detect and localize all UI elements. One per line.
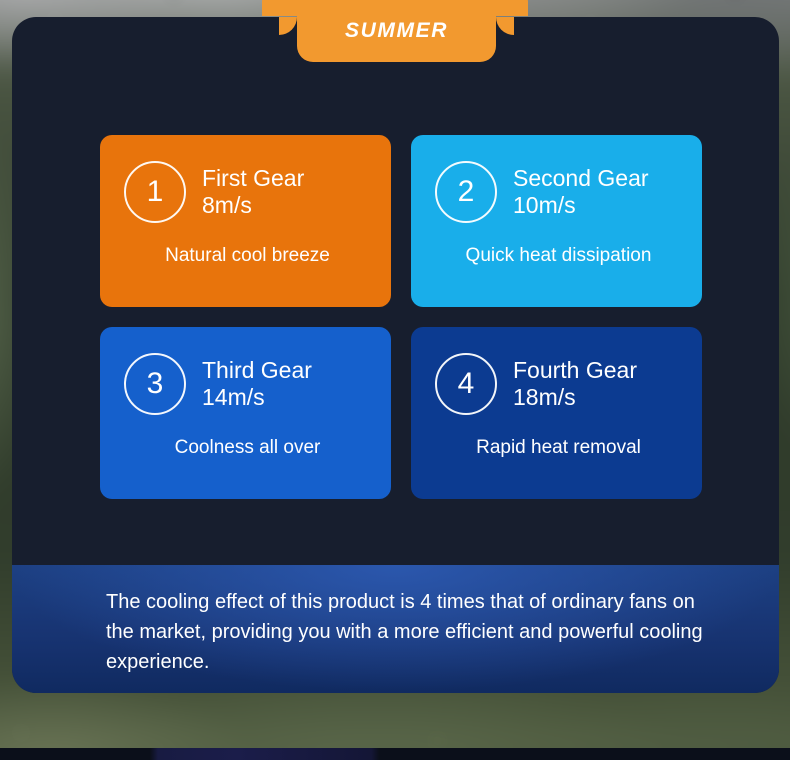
- gear-card-3-speed: 14m/s: [202, 384, 312, 411]
- gear-card-4[interactable]: 4 Fourth Gear 18m/s Rapid heat removal: [411, 327, 702, 499]
- product-infographic: 1 First Gear 8m/s Natural cool breeze 2 …: [0, 0, 790, 760]
- gear-card-2-speed: 10m/s: [513, 192, 649, 219]
- gear-card-1-title: First Gear: [202, 165, 304, 192]
- gear-card-2-description: Quick heat dissipation: [435, 245, 682, 267]
- gear-card-grid: 1 First Gear 8m/s Natural cool breeze 2 …: [100, 135, 702, 499]
- gear-card-1-head: 1 First Gear 8m/s: [124, 161, 371, 223]
- gear-number-badge-1: 1: [124, 161, 186, 223]
- gear-card-4-speed: 18m/s: [513, 384, 637, 411]
- gear-number-badge-4: 4: [435, 353, 497, 415]
- gear-card-4-head: 4 Fourth Gear 18m/s: [435, 353, 682, 415]
- gear-card-1[interactable]: 1 First Gear 8m/s Natural cool breeze: [100, 135, 391, 307]
- gear-card-2-title: Second Gear: [513, 165, 649, 192]
- footer-summary-text: The cooling effect of this product is 4 …: [12, 565, 779, 677]
- gear-card-1-speed: 8m/s: [202, 192, 304, 219]
- gear-card-4-title: Fourth Gear: [513, 357, 637, 384]
- gear-card-3-head: 3 Third Gear 14m/s: [124, 353, 371, 415]
- gear-card-2-head: 2 Second Gear 10m/s: [435, 161, 682, 223]
- gear-card-4-description: Rapid heat removal: [435, 437, 682, 459]
- gear-card-1-titles: First Gear 8m/s: [202, 165, 304, 219]
- gear-number-badge-2: 2: [435, 161, 497, 223]
- gear-card-3-titles: Third Gear 14m/s: [202, 357, 312, 411]
- gear-number-badge-3: 3: [124, 353, 186, 415]
- summer-banner-label: SUMMER: [345, 19, 448, 43]
- gear-card-1-description: Natural cool breeze: [124, 245, 371, 267]
- bottom-film-strip: [0, 748, 790, 760]
- gear-card-2-titles: Second Gear 10m/s: [513, 165, 649, 219]
- summer-banner-tab[interactable]: SUMMER: [297, 0, 496, 62]
- gear-card-3-title: Third Gear: [202, 357, 312, 384]
- footer-summary-panel: The cooling effect of this product is 4 …: [12, 565, 779, 693]
- gear-card-2[interactable]: 2 Second Gear 10m/s Quick heat dissipati…: [411, 135, 702, 307]
- gear-card-3-description: Coolness all over: [124, 437, 371, 459]
- gear-card-4-titles: Fourth Gear 18m/s: [513, 357, 637, 411]
- gear-card-3[interactable]: 3 Third Gear 14m/s Coolness all over: [100, 327, 391, 499]
